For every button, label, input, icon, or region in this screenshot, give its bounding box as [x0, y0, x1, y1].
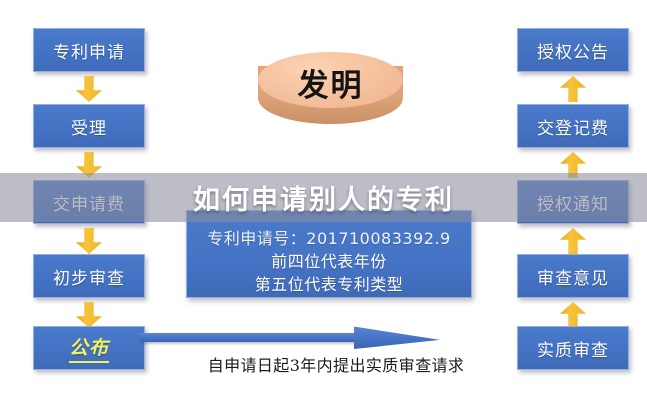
flow-box-label: 交登记费: [537, 114, 609, 139]
info-panel-line-2: 前四位代表年份: [271, 250, 387, 273]
cylinder-label: 发明: [258, 56, 403, 108]
flow-box-label: 授权通知: [537, 190, 609, 215]
arrow-up-icon-2: [560, 152, 586, 178]
arrow-up-icon-3: [560, 228, 586, 254]
flow-box-acceptance[interactable]: 受理: [33, 104, 145, 148]
arrow-up-icon-4: [560, 302, 586, 328]
flow-box-registration-fee[interactable]: 交登记费: [517, 104, 629, 148]
info-panel-line-1: 专利申请号：201710083392.9: [207, 227, 450, 250]
flow-box-grant-notice[interactable]: 授权通知: [517, 180, 629, 224]
flow-box-substantive-examination[interactable]: 实质审查: [517, 326, 629, 370]
flow-box-label: 交申请费: [53, 190, 125, 215]
arrow-right-icon-substantive: [140, 326, 440, 352]
slide-canvas: 专利申请 受理 交申请费 初步审查 公布 授权公告 交登记费 授权通知 审查意见…: [0, 0, 647, 400]
flow-box-label: 专利申请: [53, 38, 125, 63]
arrow-down-icon-2: [76, 152, 102, 178]
flow-box-application-fee[interactable]: 交申请费: [33, 180, 145, 224]
arrow-up-icon-1: [560, 76, 586, 102]
flow-box-grant-announcement[interactable]: 授权公告: [517, 28, 629, 72]
flow-box-preliminary-examination[interactable]: 初步审查: [33, 254, 145, 298]
flow-box-examination-opinion[interactable]: 审查意见: [517, 254, 629, 298]
bottom-caption: 自申请日起3年内提出实质审查请求: [186, 352, 486, 376]
flow-box-label: 受理: [71, 114, 107, 139]
flow-box-label: 初步审查: [53, 264, 125, 289]
arrow-down-icon-1: [76, 76, 102, 102]
flow-box-label: 实质审查: [537, 336, 609, 361]
flow-box-patent-application[interactable]: 专利申请: [33, 28, 145, 72]
arrow-head: [354, 326, 440, 350]
flow-box-label: 公布: [69, 333, 109, 363]
arrow-shaft: [140, 333, 372, 342]
cylinder-shape-invention: 发明: [258, 52, 403, 138]
flow-box-label: 审查意见: [537, 264, 609, 289]
flow-box-publication[interactable]: 公布: [33, 326, 145, 370]
arrow-down-icon-4: [76, 302, 102, 328]
flow-box-label: 授权公告: [537, 38, 609, 63]
info-panel: 专利申请号：201710083392.9 前四位代表年份 第五位代表专利类型: [186, 210, 472, 298]
info-panel-line-3: 第五位代表专利类型: [255, 273, 404, 296]
arrow-down-icon-3: [76, 228, 102, 254]
